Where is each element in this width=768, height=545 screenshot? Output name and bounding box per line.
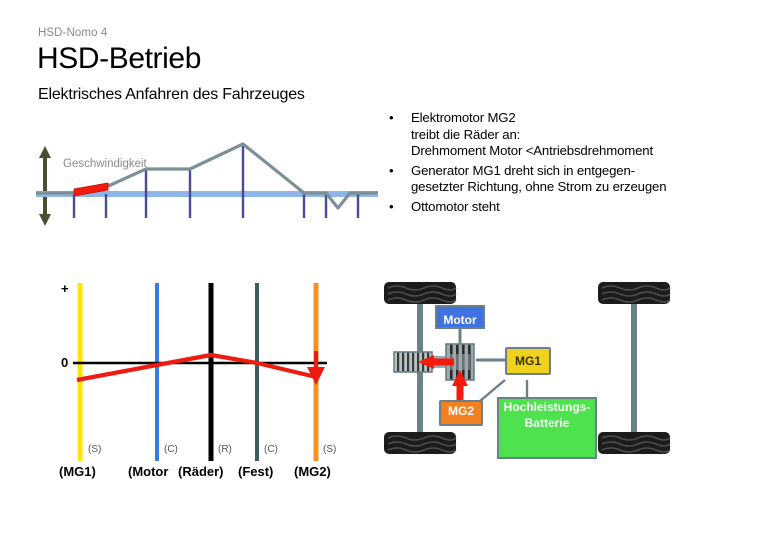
nomogram-zero-label: 0 [61,355,68,370]
nomogram-name-fest: (Fest) [238,464,273,479]
nomogram-axis-stubs [80,447,316,461]
list-item: • Elektromotor MG2 treibt die Räder an: … [385,110,760,160]
bullet-list: • Elektromotor MG2 treibt die Räder an: … [385,110,760,218]
nomogram-code-motor: (C) [164,444,178,455]
list-item: • Ottomotor steht [385,199,760,216]
bullet-icon: • [389,163,393,180]
motor-box[interactable] [436,306,484,328]
slide-subtitle: Elektrisches Anfahren des Fahrzeuges [38,86,305,104]
nomogram-chart [45,275,355,490]
tire-front-right [598,282,670,304]
nomogram-name-mg1: (MG1) [59,464,96,479]
nomogram-axes [80,283,316,447]
nomogram-mg2-arrow [307,351,325,385]
mg2-box[interactable] [440,401,482,425]
slide-eyebrow: HSD-Nomo 4 [38,27,107,39]
tire-rear-right [598,432,670,454]
bullet-icon: • [389,110,393,127]
nomogram-name-raeder: (Räder) [178,464,224,479]
bullet-line: Drehmoment Motor <Antriebsdrehmoment [411,143,760,160]
nomogram-code-fest: (C) [264,444,278,455]
bullet-line: Generator MG1 dreht sich in entgegen- [411,163,760,180]
battery-box[interactable] [498,398,596,458]
nomogram-operating-line [77,355,316,380]
page-title: HSD-Betrieb [37,42,201,76]
nomogram-plus-label: + [61,281,69,296]
speed-profile-chart [30,138,380,233]
bullet-line: Ottomotor steht [411,199,760,216]
nomogram-code-raeder: (R) [218,444,232,455]
bullet-line: treibt die Räder an: [411,127,760,144]
drivetrain-diagram [372,276,757,476]
tire-front-left [384,282,456,304]
bullet-line: gesetzter Richtung, ohne Strom zu erzeug… [411,179,760,196]
nomogram-code-mg1: (S) [88,444,101,455]
bullet-icon: • [389,199,393,216]
list-item: • Generator MG1 dreht sich in entgegen- … [385,163,760,196]
speed-axis-label: Geschwindigkeit [63,158,147,170]
slide-root: HSD-Nomo 4 HSD-Betrieb Elektrisches Anfa… [0,0,768,545]
tire-rear-left [384,432,456,454]
mg1-box[interactable] [506,348,550,374]
bullet-line: Elektromotor MG2 [411,110,760,127]
nomogram-code-mg2: (S) [323,444,336,455]
nomogram-name-mg2: (MG2) [294,464,331,479]
speed-axis-arrow [39,146,51,226]
nomogram-name-motor: (Motor [128,464,168,479]
